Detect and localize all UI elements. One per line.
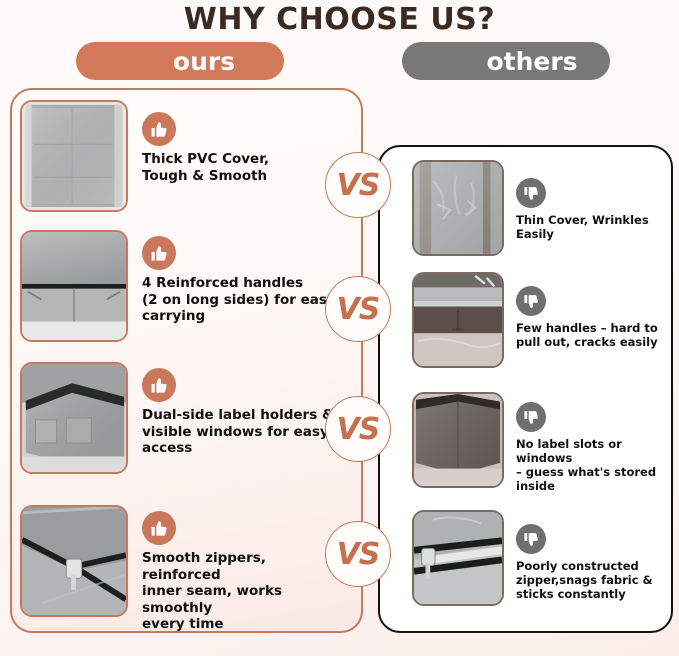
zipper-photo [22, 507, 126, 615]
thumbs-down-icon [516, 178, 546, 208]
ours-feature-text-1: Thick PVC Cover, Tough & Smooth [142, 151, 269, 184]
others-product-photo-2 [412, 272, 504, 368]
others-row-1: Thin Cover, Wrinkles Easily [412, 160, 667, 256]
no-labels-photo [414, 394, 502, 486]
thumbs-up-glyph [150, 519, 169, 538]
thumbs-up-glyph [150, 120, 169, 139]
thumbs-up-icon [142, 368, 176, 402]
handles-photo [22, 232, 126, 340]
thumbs-up-glyph [150, 244, 169, 263]
others-row-2: Few handles – hard to pull out, cracks e… [412, 272, 667, 368]
ours-column-label: ours [76, 42, 284, 80]
others-row-4: Poorly constructed zipper,snags fabric &… [412, 510, 667, 606]
ours-product-photo-2 [20, 230, 128, 342]
vs-badge-4: VS [325, 521, 391, 587]
ours-row-4: Smooth zippers, reinforced inner seam, w… [20, 505, 340, 633]
others-product-photo-4 [412, 510, 504, 606]
others-feature-text-3: No label slots or windows – guess what's… [516, 437, 667, 493]
ours-row-1: Thick PVC Cover, Tough & Smooth [20, 100, 340, 212]
vs-badge-2: VS [325, 276, 391, 342]
ours-feature-text-3: Dual-side label holders & visible window… [142, 407, 334, 457]
thumbs-up-icon [142, 112, 176, 146]
page-title: WHY CHOOSE US? [0, 2, 679, 37]
thumbs-down-glyph [523, 409, 540, 426]
ours-feature-text-4: Smooth zippers, reinforced inner seam, w… [142, 550, 340, 633]
ours-label-text: ours [173, 47, 235, 76]
thumbs-down-icon [516, 286, 546, 316]
thumbs-up-icon [142, 236, 176, 270]
ours-product-photo-4 [20, 505, 128, 617]
others-row-3: No label slots or windows – guess what's… [412, 392, 667, 493]
label-holder-photo [22, 364, 126, 472]
others-product-photo-3 [412, 392, 504, 488]
others-label-text: others [486, 47, 577, 76]
thumbs-down-glyph [523, 185, 540, 202]
thin-cover-photo [414, 162, 502, 254]
others-column-label: others [402, 42, 610, 80]
others-feature-text-4: Poorly constructed zipper,snags fabric &… [516, 559, 653, 601]
pvc-cover-photo [22, 102, 126, 210]
thumbs-up-glyph [150, 376, 169, 395]
others-product-photo-1 [412, 160, 504, 256]
thumbs-down-glyph [523, 531, 540, 548]
others-feature-text-1: Thin Cover, Wrinkles Easily [516, 213, 649, 241]
poor-zipper-photo [414, 512, 502, 604]
ours-product-photo-3 [20, 362, 128, 474]
thumbs-down-icon [516, 402, 546, 432]
ours-row-3: Dual-side label holders & visible window… [20, 362, 340, 474]
vs-badge-1: VS [325, 152, 391, 218]
comparison-infographic: WHY CHOOSE US? ours others [0, 0, 679, 656]
vs-badge-3: VS [325, 396, 391, 462]
ours-row-2: 4 Reinforced handles (2 on long sides) f… [20, 230, 340, 342]
others-feature-text-2: Few handles – hard to pull out, cracks e… [516, 321, 658, 349]
few-handles-photo [414, 274, 502, 366]
ours-product-photo-1 [20, 100, 128, 212]
ours-feature-text-2: 4 Reinforced handles (2 on long sides) f… [142, 275, 336, 325]
thumbs-down-glyph [523, 293, 540, 310]
thumbs-down-icon [516, 524, 546, 554]
thumbs-up-icon [142, 511, 176, 545]
